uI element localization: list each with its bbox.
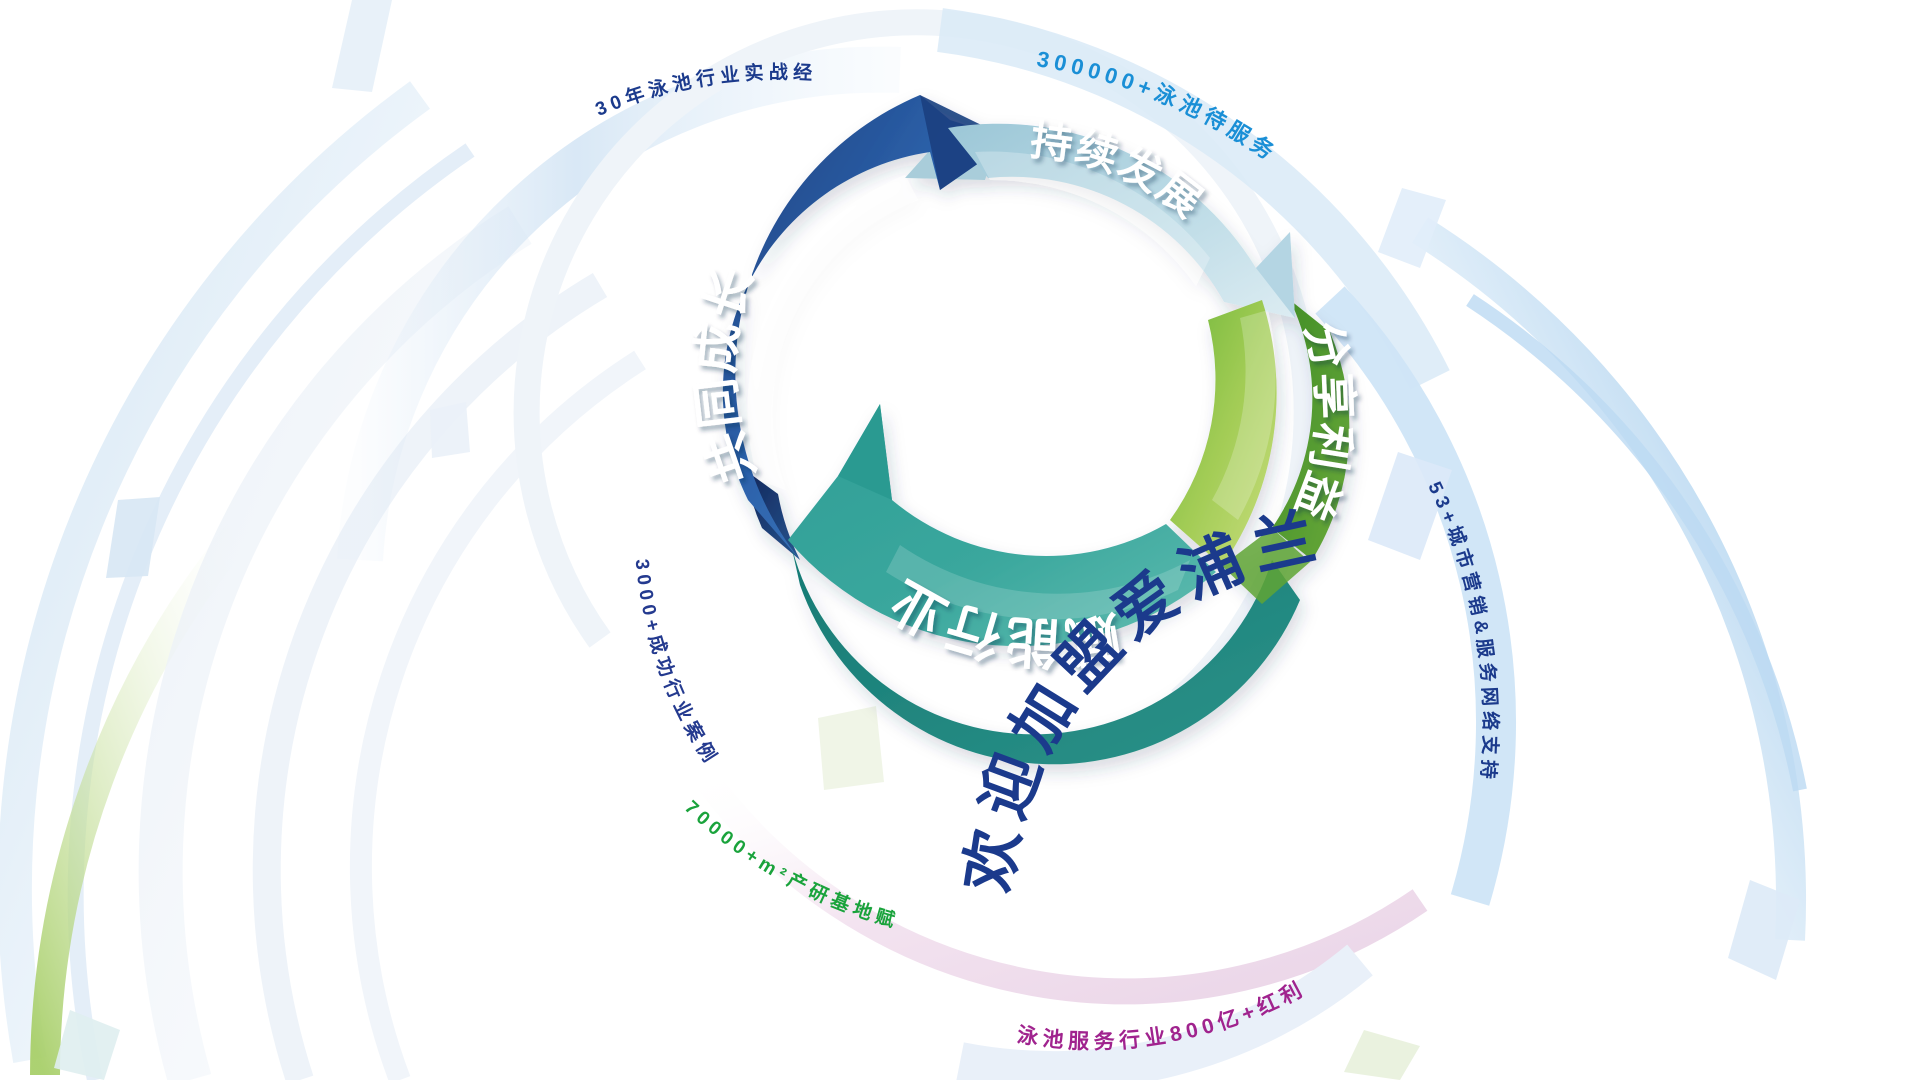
bg-arc-grey-1 bbox=[161, 225, 520, 1080]
bg-arc-right-outer-2 bbox=[1470, 300, 1800, 790]
poster-artwork: 共同成长 持续发展 分享利益 赋能行业 欢迎加盟爱浦兰 30年泳池行业实战经验 … bbox=[0, 0, 1920, 1080]
poster-canvas: 共同成长 持续发展 分享利益 赋能行业 欢迎加盟爱浦兰 30年泳池行业实战经验 … bbox=[0, 0, 1920, 1080]
stat-success-cases: 3000+成功行业案例 bbox=[631, 558, 724, 770]
